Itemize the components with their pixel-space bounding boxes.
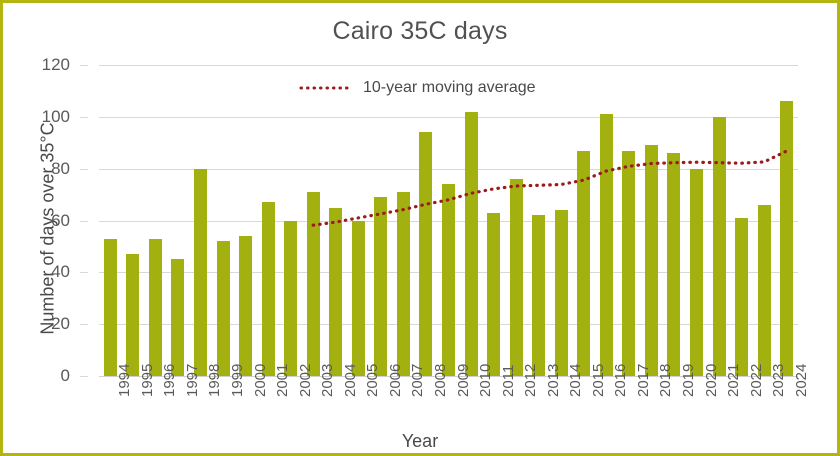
x-axis-title: Year: [3, 431, 837, 452]
x-axis-tick: 1999: [229, 381, 246, 397]
x-axis-tick: 2006: [387, 381, 404, 397]
x-axis-tick: 2009: [455, 381, 472, 397]
x-axis-tick: 2019: [680, 381, 697, 397]
x-axis-tick: 2011: [500, 381, 517, 397]
y-axis-tick: 80: [51, 160, 70, 177]
y-axis-tick-mark: [80, 117, 88, 118]
y-axis-tick-mark: [80, 65, 88, 66]
chart-container: Cairo 35C days Number of days over 35°C …: [0, 0, 840, 456]
y-axis-tick: 120: [42, 56, 70, 73]
x-axis-tick: 2007: [409, 381, 426, 397]
y-axis-tick: 0: [61, 367, 70, 384]
x-axis-tick: 2016: [612, 381, 629, 397]
x-axis-tick: 2001: [274, 381, 291, 397]
x-axis-tick: 2010: [477, 381, 494, 397]
x-axis-tick: 1994: [116, 381, 133, 397]
x-axis-tick: 2000: [252, 381, 269, 397]
legend-label: 10-year moving average: [363, 79, 536, 97]
x-axis-tick: 1996: [161, 381, 178, 397]
y-axis-tick-mark: [80, 221, 88, 222]
legend-dotted-line-icon: [299, 81, 355, 95]
x-axis-tick: 1995: [139, 381, 156, 397]
y-axis-tick-labels: 020406080100120: [33, 65, 88, 376]
y-axis-tick: 60: [51, 212, 70, 229]
x-axis-tick: 2008: [432, 381, 449, 397]
x-axis-tick: 2023: [770, 381, 787, 397]
y-axis-tick-mark: [80, 324, 88, 325]
x-axis-tick: 2013: [545, 381, 562, 397]
x-axis-tick: 2012: [522, 381, 539, 397]
x-axis-tick: 2024: [793, 381, 810, 397]
x-axis-tick: 2014: [567, 381, 584, 397]
y-axis-tick-mark: [80, 169, 88, 170]
x-axis-tick: 2004: [342, 381, 359, 397]
x-axis-tick: 2021: [725, 381, 742, 397]
x-axis-tick: 2018: [657, 381, 674, 397]
y-axis-tick: 40: [51, 263, 70, 280]
x-axis-tick: 2002: [297, 381, 314, 397]
x-axis-tick: 2005: [364, 381, 381, 397]
moving-average-line: [99, 65, 798, 376]
x-axis-tick: 2022: [748, 381, 765, 397]
x-axis-tick: 2017: [635, 381, 652, 397]
x-axis-tick: 2020: [703, 381, 720, 397]
x-axis-tick: 1998: [206, 381, 223, 397]
y-axis-tick-mark: [80, 376, 88, 377]
x-axis-tick: 1997: [184, 381, 201, 397]
plot-area: [99, 65, 798, 376]
y-axis-tick-mark: [80, 272, 88, 273]
legend: 10-year moving average: [299, 79, 536, 97]
y-axis-tick: 100: [42, 108, 70, 125]
x-axis-tick: 2003: [319, 381, 336, 397]
y-axis-tick: 20: [51, 315, 70, 332]
x-axis-tick: 2015: [590, 381, 607, 397]
chart-title: Cairo 35C days: [3, 17, 837, 46]
